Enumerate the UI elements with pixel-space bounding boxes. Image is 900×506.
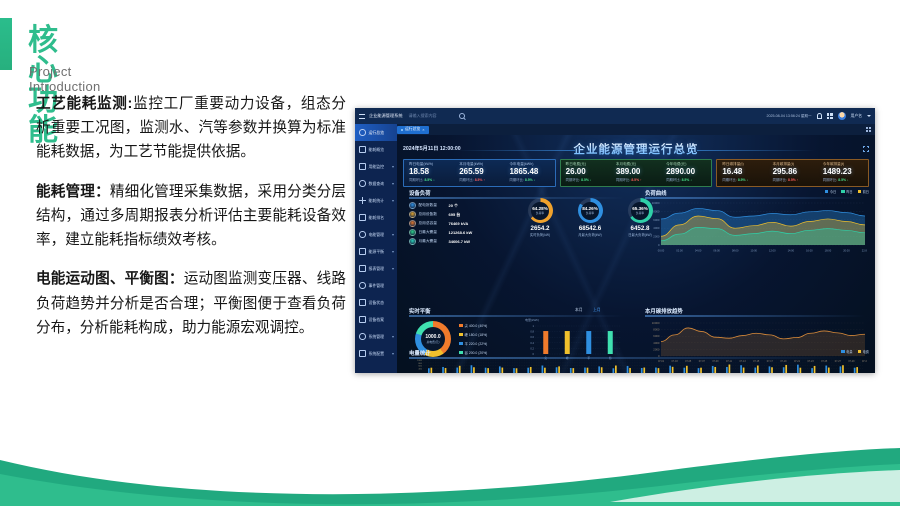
svg-text:0: 0 [658,243,660,247]
kpi-change: 同期环比: 8.5% ↑ [773,177,818,182]
sidebar: 运行总览能耗概览用能监控数据查询能耗统计能耗排名电能管理能源平衡报表管理事件管理… [355,124,397,373]
svg-text:600: 600 [418,366,422,368]
bar-电费-29 [828,368,830,373]
gauge-percent: 84.26% [582,206,598,211]
svg-text:6000: 6000 [653,334,660,338]
sidebar-item-2[interactable]: 用能监控 [355,158,397,175]
appbar-timestamp: 2025-08-04 13:56:24 星期一 [766,114,811,119]
svg-text:14:00: 14:00 [788,249,795,253]
bar-电费-18 [672,367,674,373]
kpi-change: 同期环比: 8.5% ↑ [459,177,504,182]
sidebar-item-0[interactable]: 运行总览 [355,124,397,141]
svg-text:0.8: 0.8 [530,330,534,334]
kpi-change: 同期环比: 8.5% ↓ [566,177,611,182]
panel-title-energy-stats: 电量统计 [409,349,431,357]
tab-dot-icon [401,129,403,131]
body-copy: 工艺能耗监测:监控工厂重要动力设备，组态分析重要工况图，监测水、汽等参数并换算为… [36,92,346,355]
sidebar-item-9[interactable]: 事件管理 [355,277,397,294]
svg-text:18:00: 18:00 [825,249,832,253]
bar-电量-26 [783,367,785,373]
bar-电费-17 [658,368,660,373]
kpi-card[interactable]: 今年电量(kWh)1865.48同期环比: 8.5% ↓ [504,162,554,184]
svg-text:2000: 2000 [653,347,660,351]
kpi-value: 26.00 [566,167,611,177]
paragraph-2-lead: 能耗管理： [36,184,110,200]
svg-text:02:00: 02:00 [676,249,683,253]
load-curve-plot: 020004000600080001000000:0002:0004:0006:… [645,201,867,253]
legend-swatch [459,351,463,355]
legend-item[interactable]: 昨日 [841,189,852,194]
sidebar-item-label: 能耗排名 [369,215,385,221]
equipment-list-item: 配电所数量20 个 [409,201,472,210]
gauge-value: 68542.6 [567,225,613,232]
legend-load-curve: 今日昨日前日 [825,189,869,194]
tab-strip: 运行总览 × [355,124,875,135]
legend-item[interactable]: 前日 [858,189,869,194]
gauge-0: 64.28%负荷率2654.2实时负荷(kW) [517,198,563,237]
accent-bar [0,18,12,70]
legend-energy-stats: 电量电费 [841,349,869,354]
kpi-value: 1489.23 [823,167,868,177]
gauge-1: 84.26%负荷率68542.6月最大负荷(kW) [567,198,613,237]
donut-legend-item[interactable]: 尖 400.0 (40%) [459,323,487,328]
kpi-change: 同期环比: 8.5% ↑ [616,177,661,182]
panel-title-power-balance: 实时平衡 [409,307,431,315]
kpi-value: 1865.48 [509,167,554,177]
rank-icon [359,214,366,221]
kpi-card[interactable]: 本月电费(元)389.00同期环比: 8.5% ↑ [611,162,661,184]
kpi-change: 同期环比: 8.5% ↓ [823,177,868,182]
donut-center: 1000.0 总电费(元) [421,327,445,351]
legend-label: 电费 [863,349,869,354]
sidebar-item-label: 设备档案 [369,317,385,323]
svg-text:400: 400 [418,369,422,371]
gauge-ring: 64.28%负荷率 [528,198,553,223]
legend-label: 前日 [863,189,869,194]
sidebar-item-6[interactable]: 电能管理 [355,226,397,243]
kpi-value: 389.00 [616,167,661,177]
equipment-list-item: 月最大需量34606.7 kW [409,237,472,246]
hamburger-icon[interactable] [359,114,365,119]
bar-电量-20 [698,368,700,373]
svg-text:04:00: 04:00 [695,249,702,253]
overview-icon [359,146,366,153]
bar-电量-28 [811,368,813,373]
panel-rule-power-balance [409,315,624,317]
kpi-card[interactable]: 今年碳排量(t)1489.23同期环比: 8.5% ↓ [818,162,868,184]
sidebar-item-label: 系统配置 [369,351,385,357]
legend-swatch [858,350,862,354]
bar-电费-30 [842,365,844,373]
equipment-label: 配电所数量 [419,203,446,208]
kpi-value: 18.58 [409,167,454,177]
balance-bar-ylabel: 电量(kWh) [525,318,539,322]
tab-overview[interactable]: 运行总览 × [397,126,429,134]
bar-电量-18 [669,366,671,373]
bar-电量-2 [442,367,444,373]
svg-text:22:00: 22:00 [862,249,867,253]
bar-电量-13 [598,366,600,373]
legend-label: 谷 200.0 (20%) [465,350,488,355]
link-this-month[interactable]: 本月 [575,308,583,313]
bar-电量-17 [655,368,657,373]
bar-电费-2 [445,368,447,373]
equipment-label: 总用总容量 [419,221,446,226]
equipment-list-item: 总用总容量76469 kVA [409,219,472,228]
donut-legend-item[interactable]: 谷 200.0 (20%) [459,350,487,355]
bar-电费-11 [572,368,574,373]
equipment-value: 34606.7 kW [449,239,471,244]
chevron-down-icon[interactable] [392,336,394,338]
fullscreen-icon[interactable] [863,146,869,152]
wave-decoration-front [0,416,900,506]
panel-rule-load-curve [645,197,865,199]
bar-电费-27 [800,368,802,373]
tab-options-icon[interactable] [866,127,871,132]
bar-电量-9 [542,366,544,373]
bar-电量-30 [840,366,842,373]
kpi-value: 295.86 [773,167,818,177]
sidebar-item-8[interactable]: 报表管理 [355,260,397,277]
equipment-list-item: 总用设备数695 台 [409,210,472,219]
paragraph-3: 电能运动图、平衡图：运动图监测变压器、线路负荷趋势并分析是否合理；平衡图便于查看… [36,267,346,340]
status-icon [359,299,366,306]
legend-label: 尖 400.0 (40%) [465,323,488,328]
kpi-card[interactable]: 本月电量(kWh)265.59同期环比: 8.5% ↑ [454,162,504,184]
bar-电费-20 [700,368,702,373]
kpi-change: 同期环比: 8.5% ↓ [409,177,454,182]
search-icon[interactable] [459,113,465,119]
bar-峰 [565,331,570,354]
gauge-inner-label: 负荷率 [536,211,544,215]
gauge-inner-label: 负荷率 [636,211,644,215]
monitor-icon [359,163,366,170]
sidebar-item-label: 数据查询 [369,181,385,187]
query-icon [359,180,366,187]
svg-text:800: 800 [418,363,422,365]
bar-电量-29 [825,366,827,373]
bar-电费-3 [459,366,461,373]
kpi-change: 同期环比: 8.5% ↓ [509,177,554,182]
load-curve-chart: 020004000600080001000000:0002:0004:0006:… [645,201,867,253]
report-icon [359,265,366,272]
page-subtitle: Project Introduction [29,64,101,94]
bar-电费-21 [714,367,716,373]
bar-电量-10 [556,367,558,373]
paragraph-3-lead: 电能运动图、平衡图： [36,271,184,287]
paragraph-2: 能耗管理：精细化管理采集数据，采用分类分层结构，通过多周期报表分析评估主要能耗设… [36,180,346,253]
equipment-bullet-icon [409,229,416,236]
bar-电费-16 [643,368,645,373]
chevron-down-icon[interactable] [392,268,394,270]
svg-text:00:00: 00:00 [658,249,665,253]
legend-item[interactable]: 电费 [858,349,869,354]
svg-text:4000: 4000 [653,341,660,345]
legend-label: 电量 [846,349,852,354]
bell-icon[interactable] [817,113,822,119]
bar-电费-13 [601,367,603,373]
svg-text:8000: 8000 [653,328,660,332]
equipment-label: 日最大需量 [419,230,446,235]
bar-电费-4 [473,367,475,373]
bar-电量-15 [627,366,629,373]
dashboard-appbar: 企业能源管理系统 请输入搜索内容 2025-08-04 13:56:24 星期一… [355,108,875,124]
balance-icon [359,248,366,255]
bar-电费-22 [729,364,731,373]
svg-text:16:00: 16:00 [806,249,813,253]
svg-text:0.6: 0.6 [530,335,534,339]
close-icon[interactable]: × [422,127,424,132]
chevron-down-icon[interactable] [867,115,871,117]
bar-电量-24 [754,368,756,373]
bar-谷 [608,331,613,354]
bar-电费-5 [487,368,489,373]
sidebar-item-label: 能源平衡 [369,249,385,255]
donut-legend-item[interactable]: 峰 180.0 (18%) [459,332,487,337]
kpi-card[interactable]: 本月碳排量(t)295.86同期环比: 8.5% ↑ [768,162,818,184]
svg-text:6000: 6000 [653,218,660,222]
bar-电费-26 [785,365,787,373]
bar-电量-1 [428,368,430,373]
bar-电费-1 [430,368,432,373]
svg-text:10000: 10000 [652,321,660,325]
bar-电量-25 [769,366,771,373]
sidebar-item-label: 报表管理 [369,266,385,272]
energy-statistics-chart: 4006008001000 [409,359,865,373]
apps-grid-icon[interactable] [827,113,833,119]
sidebar-item-10[interactable]: 设备状态 [355,294,397,311]
bar-电量-16 [641,368,643,373]
chevron-down-icon[interactable] [392,200,394,202]
area-carbon [661,328,865,356]
system-name: 企业能源管理系统 [369,113,403,119]
panel-title-carbon-trend: 本月碳排放趋势 [645,307,683,315]
kpi-group-blue: 昨日电量(kWh)18.58同期环比: 8.5% ↓本月电量(kWh)265.5… [403,159,556,187]
bar-电量-12 [584,368,586,373]
kpi-row: 昨日电量(kWh)18.58同期环比: 8.5% ↓本月电量(kWh)265.5… [403,159,869,187]
sidebar-item-7[interactable]: 能源平衡 [355,243,397,260]
svg-text:1: 1 [533,324,535,328]
sidebar-item-label: 用能监控 [369,164,385,170]
bar-电费-14 [615,366,617,373]
legend-label: 平 220.0 (22%) [465,341,488,346]
svg-text:10:00: 10:00 [750,249,757,253]
equipment-bullet-icon [409,238,416,245]
svg-text:8000: 8000 [653,209,660,213]
event-icon [359,282,366,289]
bar-电费-6 [501,368,503,373]
equipment-value: 121268.6 kW [449,230,473,235]
paragraph-1-lead: 工艺能耗监测: [36,96,132,112]
legend-swatch [858,190,862,194]
power-icon [359,231,366,238]
bar-电量-23 [740,365,742,373]
legend-swatch [825,190,829,194]
legend-item[interactable]: 今日 [825,189,836,194]
gauge-inner-label: 负荷率 [586,211,594,215]
bar-电量-7 [513,368,515,373]
bar-平 [586,331,591,354]
kpi-change: 同期环比: 8.5% ↓ [666,177,711,182]
legend-swatch [459,342,463,346]
kpi-card[interactable]: 昨日电费(元)26.00同期环比: 8.5% ↓ [561,162,611,184]
bar-电费-8 [530,367,532,373]
panel-title-equipment-load: 设备负荷 [409,189,431,197]
sidebar-item-5[interactable]: 能耗排名 [355,209,397,226]
bar-电量-5 [485,368,487,373]
archive-icon [359,316,366,323]
plus-icon [359,197,366,204]
equipment-bullet-icon [409,202,416,209]
gauge-value: 2654.2 [517,225,563,232]
kpi-card[interactable]: 昨日碳排量(t)16.48同期环比: 8.5% ↓ [717,162,767,184]
kpi-card[interactable]: 今年电费(元)2890.00同期环比: 8.5% ↓ [661,162,711,184]
panel-title-load-curve: 负荷曲线 [645,189,667,197]
dashboard-canvas: 2024年5月11日 12:00:00 企业能源管理运行总览 昨日电量(kWh)… [397,135,875,373]
chevron-down-icon[interactable] [392,353,394,355]
svg-text:20:00: 20:00 [843,249,850,253]
bar-电费-10 [558,366,560,373]
bar-电量-31 [854,368,856,373]
bar-电费-25 [771,367,773,373]
sidebar-item-label: 系统管理 [369,334,385,340]
kpi-group-orange: 昨日碳排量(t)16.48同期环比: 8.5% ↓本月碳排量(t)295.86同… [716,159,869,187]
sidebar-item-12[interactable]: 系统管理 [355,328,397,345]
equipment-bullet-icon [409,211,416,218]
wave-decoration-back [0,416,900,506]
gauge-caption: 实时负荷(kW) [517,232,563,237]
bar-电量-11 [570,368,572,373]
dashboard-icon [359,129,366,136]
link-last-month[interactable]: 上月 [593,308,601,313]
kpi-value: 2890.00 [666,167,711,177]
kpi-value: 265.59 [459,167,504,177]
bar-电量-3 [456,368,458,373]
bar-尖 [543,331,548,354]
equipment-list: 配电所数量20 个总用设备数695 台总用总容量76469 kVA日最大需量12… [409,201,472,246]
gauge-ring: 84.26%负荷率 [578,198,603,223]
sidebar-item-3[interactable]: 数据查询 [355,175,397,192]
system-icon [359,333,366,340]
equipment-list-item: 日最大需量121268.6 kW [409,228,472,237]
sidebar-item-label: 事件管理 [369,283,385,289]
kpi-group-green: 昨日电费(元)26.00同期环比: 8.5% ↓本月电费(元)389.00同期环… [560,159,713,187]
bar-电量-6 [499,366,501,373]
svg-text:12:00: 12:00 [769,249,776,253]
sidebar-item-13[interactable]: 系统配置 [355,345,397,362]
bar-电费-19 [686,366,688,373]
svg-text:0: 0 [533,352,535,356]
kpi-change: 同期环比: 8.5% ↓ [722,177,767,182]
legend-swatch [459,324,463,328]
sidebar-item-label: 能耗概览 [369,147,385,153]
energy-statistics-plot: 4006008001000 [409,359,865,373]
kpi-card[interactable]: 昨日电量(kWh)18.58同期环比: 8.5% ↓ [404,162,454,184]
legend-swatch [841,350,845,354]
equipment-value: 20 个 [449,203,459,209]
equipment-label: 总用设备数 [419,212,446,217]
equipment-bullet-icon [409,220,416,227]
bar-电费-24 [757,366,759,373]
dashboard-title: 企业能源管理运行总览 [397,141,875,157]
sidebar-item-label: 能耗统计 [369,198,385,204]
chevron-down-icon[interactable] [392,183,394,185]
equipment-label: 月最大需量 [419,239,446,244]
sidebar-item-label: 电能管理 [369,232,385,238]
bar-电量-14 [613,368,615,373]
equipment-value: 76469 kVA [449,221,469,226]
user-name: 用户名 [851,114,862,119]
svg-text:10000: 10000 [652,201,660,205]
sidebar-item-label: 运行总览 [369,130,385,136]
bar-电费-15 [629,368,631,373]
svg-text:06:00: 06:00 [713,249,720,253]
dashboard-screenshot: 企业能源管理系统 请输入搜索内容 2025-08-04 13:56:24 星期一… [355,108,875,373]
bar-电量-8 [527,368,529,373]
sidebar-item-4[interactable]: 能耗统计 [355,192,397,209]
legend-swatch [459,333,463,337]
legend-label: 峰 180.0 (18%) [465,332,488,337]
chevron-down-icon[interactable] [392,251,394,253]
bar-电费-7 [516,368,518,373]
svg-text:08:00: 08:00 [732,249,739,253]
gauge-caption: 月最大负荷(kW) [567,232,613,237]
svg-text:0.2: 0.2 [530,346,534,350]
kpi-value: 16.48 [722,167,767,177]
svg-text:0.4: 0.4 [530,341,534,345]
legend-label: 昨日 [846,189,852,194]
bar-电量-4 [471,365,473,373]
bar-电量-27 [797,365,799,373]
sidebar-item-1[interactable]: 能耗概览 [355,141,397,158]
bar-电费-31 [856,367,858,373]
tab-overview-label: 运行总览 [405,127,420,132]
panel-rule-carbon-trend [645,315,865,317]
avatar[interactable] [838,112,846,120]
equipment-value: 695 台 [449,212,461,218]
gauge-percent: 64.28% [532,206,548,211]
bar-电量-21 [712,366,714,373]
legend-item[interactable]: 电量 [841,349,852,354]
power-balance-plot: 00.20.40.60.81尖峰平谷 [525,324,623,360]
dashboard-title-band: 2024年5月11日 12:00:00 企业能源管理运行总览 [397,137,875,159]
donut-legend-item[interactable]: 平 220.0 (22%) [459,341,487,346]
bar-电费-9 [544,368,546,373]
paragraph-1: 工艺能耗监测:监控工厂重要动力设备，组态分析重要工况图，监测水、汽等参数并换算为… [36,92,346,165]
bar-电费-23 [743,368,745,373]
bar-电费-28 [814,366,816,373]
sidebar-item-11[interactable]: 设备档案 [355,311,397,328]
donut-center-caption: 总电费(元) [426,340,439,344]
svg-text:4000: 4000 [653,226,660,230]
config-icon [359,350,366,357]
search-input[interactable]: 请输入搜索内容 [409,113,437,119]
chevron-down-icon[interactable] [392,234,394,236]
bar-电量-22 [726,367,728,373]
legend-swatch [841,190,845,194]
chevron-down-icon[interactable] [392,166,394,168]
svg-text:1000: 1000 [417,360,423,362]
legend-label: 今日 [830,189,836,194]
bar-电费-12 [587,368,589,373]
bar-电量-19 [683,368,685,373]
svg-text:2000: 2000 [653,235,660,239]
sidebar-item-label: 设备状态 [369,300,385,306]
power-balance-bar-chart: 00.20.40.60.81尖峰平谷 [525,324,623,360]
